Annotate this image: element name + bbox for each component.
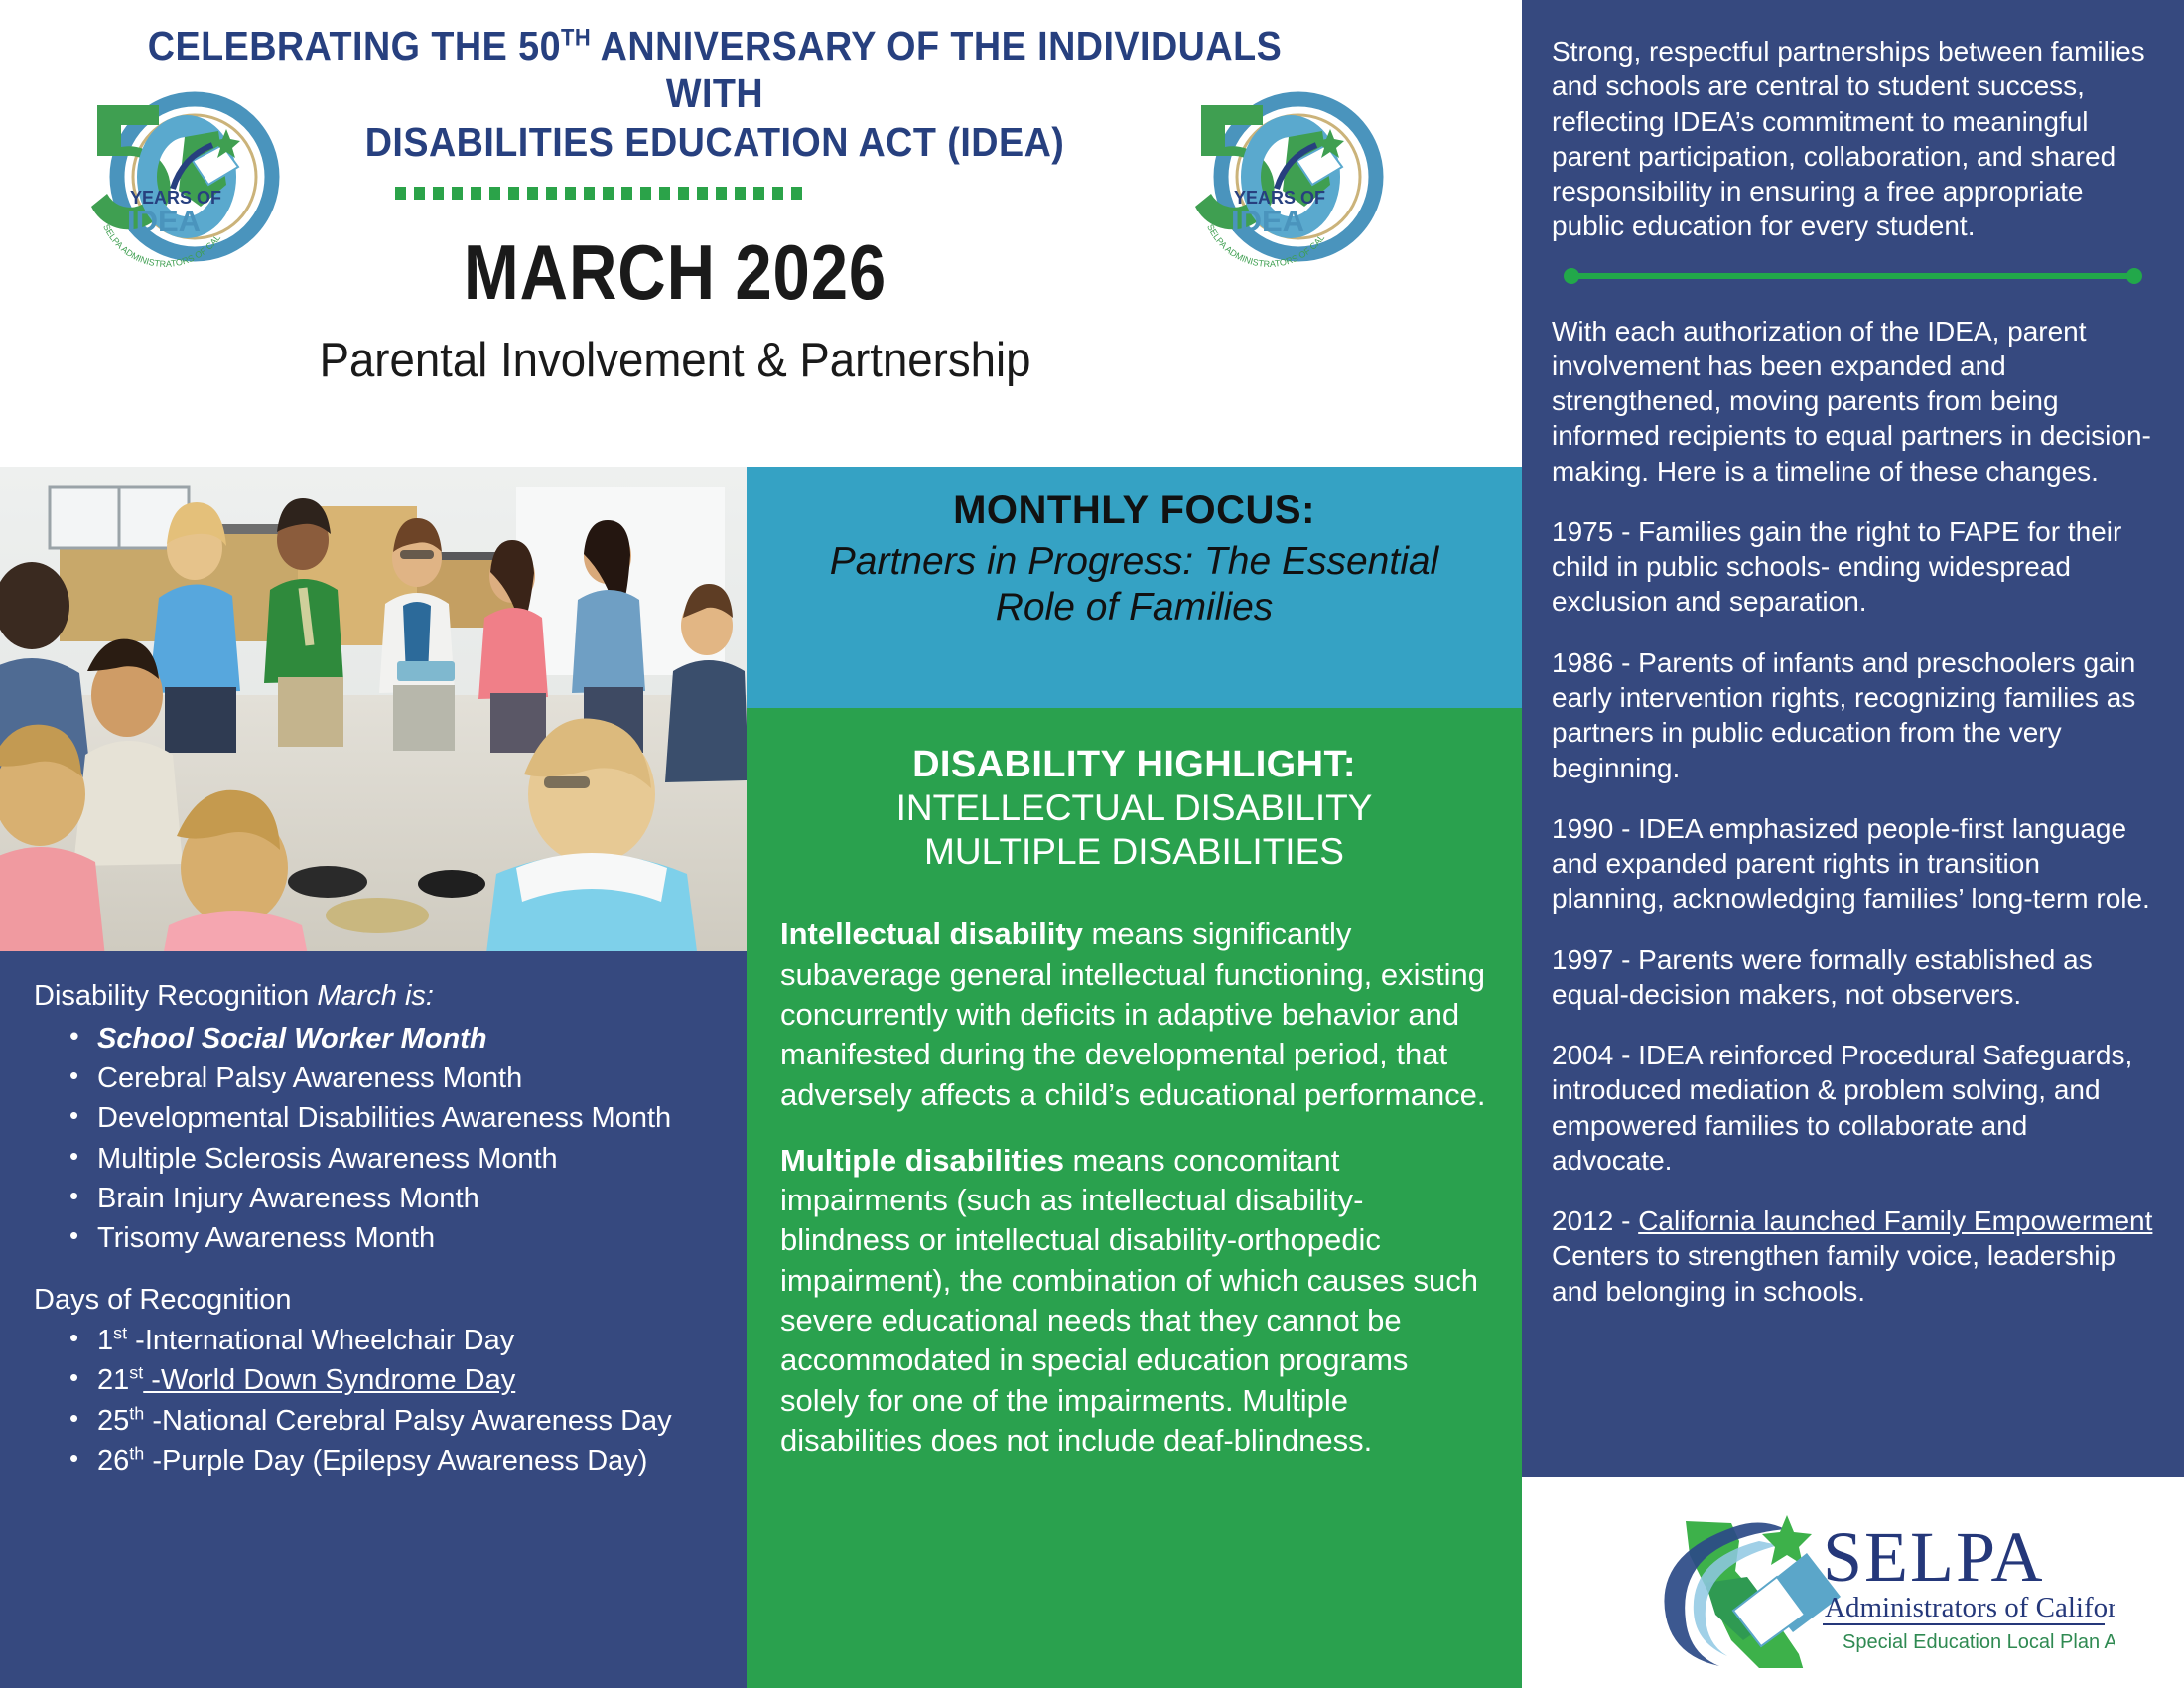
- timeline-text: - Parents were formally established as e…: [1552, 944, 2093, 1010]
- timeline-text: - Families gain the right to FAPE for th…: [1552, 516, 2121, 618]
- list-item: Multiple Sclerosis Awareness Month: [64, 1140, 713, 1178]
- list-item: 25th -National Cerebral Palsy Awareness …: [64, 1402, 713, 1440]
- timeline-year: 1975: [1552, 516, 1613, 547]
- timeline-entry: 2004 - IDEA reinforced Procedural Safegu…: [1552, 1038, 2154, 1178]
- day-ordinal: st: [113, 1324, 127, 1343]
- green-dotted-divider: [395, 187, 807, 200]
- timeline-entry: 1986 - Parents of infants and preschoole…: [1552, 645, 2154, 785]
- timeline-text: Centers to strengthen family voice, lead…: [1552, 1240, 2116, 1306]
- disability-highlight-panel: DISABILITY HIGHLIGHT: INTELLECTUAL DISAB…: [747, 708, 1522, 1688]
- timeline-lead: With each authorization of the IDEA, par…: [1552, 314, 2154, 489]
- selpa-subtagline: Special Education Local Plan Area: [1843, 1631, 2115, 1653]
- classroom-discussion-photo: [0, 467, 747, 951]
- monthly-focus-subtitle: Partners in Progress: The Essential Role…: [786, 539, 1482, 631]
- monthly-focus-panel: MONTHLY FOCUS: Partners in Progress: The…: [747, 467, 1522, 708]
- timeline-dash: -: [1613, 1205, 1638, 1236]
- page-title: CELEBRATING THE 50TH ANNIVERSARY OF THE …: [112, 22, 1317, 166]
- day-ordinal: th: [129, 1403, 144, 1423]
- disability-highlight-line-1: INTELLECTUAL DISABILITY: [780, 786, 1488, 830]
- list-item: Cerebral Palsy Awareness Month: [64, 1059, 713, 1097]
- timeline-text: - IDEA reinforced Procedural Safeguards,…: [1552, 1040, 2132, 1176]
- list-item: 1st -International Wheelchair Day: [64, 1322, 713, 1359]
- list-item: Developmental Disabilities Awareness Mon…: [64, 1099, 713, 1137]
- green-line-divider: [1564, 270, 2142, 280]
- sidebar-intro: Strong, respectful partnerships between …: [1552, 34, 2154, 244]
- list-item: Trisomy Awareness Month: [64, 1219, 713, 1257]
- title-line-2: DISABILITIES EDUCATION ACT (IDEA): [365, 119, 1065, 165]
- day-ordinal: th: [129, 1443, 144, 1463]
- definition-paragraph-intellectual: Intellectual disability means significan…: [780, 914, 1488, 1114]
- list-item: School Social Worker Month: [64, 1020, 713, 1057]
- timeline-content: With each authorization of the IDEA, par…: [1552, 314, 2154, 1309]
- list-item: Brain Injury Awareness Month: [64, 1180, 713, 1217]
- header-section: CELEBRATING THE 50TH ANNIVERSARY OF THE …: [0, 0, 1522, 460]
- idea-50-anniversary-logo-right: YEARS OF IDEA SELPA ADMINISTRATORS OF CA…: [1171, 77, 1385, 291]
- disability-recognition-panel: Disability Recognition March is: School …: [0, 951, 747, 1688]
- heading-italic: March is:: [317, 980, 434, 1012]
- selpa-wordmark: SELPA: [1823, 1517, 2044, 1597]
- timeline-year: 1997: [1552, 944, 1613, 975]
- list-item: 26th -Purple Day (Epilepsy Awareness Day…: [64, 1442, 713, 1479]
- term-multiple-disabilities: Multiple disabilities: [780, 1143, 1064, 1178]
- flyer-page: CELEBRATING THE 50TH ANNIVERSARY OF THE …: [0, 0, 2184, 1688]
- awareness-months-list: School Social Worker Month Cerebral Pals…: [64, 1020, 713, 1258]
- term-intellectual-disability: Intellectual disability: [780, 916, 1083, 951]
- timeline-text: - IDEA emphasized people-first language …: [1552, 813, 2150, 914]
- day-number: 1: [97, 1325, 113, 1356]
- day-text: -National Cerebral Palsy Awareness Day: [144, 1405, 671, 1437]
- definition-text: means concomitant impairments (such as i…: [780, 1143, 1478, 1458]
- logo-idea-text: IDEA: [127, 204, 201, 238]
- disability-recognition-heading: Disability Recognition March is:: [34, 979, 713, 1014]
- timeline-year: 2004: [1552, 1040, 1613, 1070]
- list-item[interactable]: 21st -World Down Syndrome Day: [64, 1361, 713, 1399]
- day-text: -International Wheelchair Day: [127, 1325, 514, 1356]
- intro-paragraph: Strong, respectful partnerships between …: [1552, 34, 2154, 244]
- day-ordinal: st: [129, 1363, 143, 1383]
- disability-highlight-line-2: MULTIPLE DISABILITIES: [780, 830, 1488, 874]
- timeline-entry: 1997 - Parents were formally established…: [1552, 942, 2154, 1013]
- heading-plain: Disability Recognition: [34, 980, 317, 1012]
- timeline-entry-2012: 2012 - California launched Family Empowe…: [1552, 1203, 2154, 1309]
- month-title: MARCH 2026: [376, 233, 974, 311]
- timeline-year: 1986: [1552, 647, 1613, 678]
- day-number: 25: [97, 1405, 129, 1437]
- logo-idea-text: IDEA: [1231, 204, 1304, 238]
- family-empowerment-link[interactable]: California launched Family Empowerment: [1638, 1205, 2152, 1236]
- disability-highlight-title: DISABILITY HIGHLIGHT:: [780, 744, 1488, 786]
- day-text-link[interactable]: -World Down Syndrome Day: [143, 1364, 515, 1396]
- timeline-entry: 1975 - Families gain the right to FAPE f…: [1552, 514, 2154, 620]
- monthly-focus-title: MONTHLY FOCUS:: [786, 489, 1482, 533]
- day-number: 21: [97, 1364, 129, 1396]
- timeline-year: 1990: [1552, 813, 1613, 844]
- disability-highlight-body: Intellectual disability means significan…: [780, 914, 1488, 1461]
- timeline-entry: 1990 - IDEA emphasized people-first lang…: [1552, 811, 2154, 916]
- timeline-year: 2012: [1552, 1205, 1613, 1236]
- title-ordinal: TH: [561, 24, 591, 51]
- divider-bar: [1571, 273, 2134, 279]
- day-text: -Purple Day (Epilepsy Awareness Day): [144, 1445, 647, 1477]
- month-subtitle: Parental Involvement & Partnership: [287, 336, 1062, 386]
- definition-paragraph-multiple: Multiple disabilities means concomitant …: [780, 1141, 1488, 1461]
- divider-dot-right: [2126, 268, 2142, 284]
- days-of-recognition-list: 1st -International Wheelchair Day 21st -…: [64, 1322, 713, 1479]
- selpa-tagline: Administrators of California: [1825, 1592, 2115, 1623]
- days-of-recognition-heading: Days of Recognition: [34, 1283, 713, 1318]
- timeline-sidebar: Strong, respectful partnerships between …: [1522, 0, 2184, 1477]
- selpa-logo: SELPA Administrators of California Speci…: [1648, 1499, 2115, 1668]
- timeline-text: - Parents of infants and preschoolers ga…: [1552, 647, 2135, 783]
- idea-50-anniversary-logo-left: YEARS OF IDEA SELPA ADMINISTRATORS OF CA…: [68, 77, 281, 291]
- day-number: 26: [97, 1445, 129, 1477]
- title-line-1-a: CELEBRATING THE 50: [148, 23, 561, 69]
